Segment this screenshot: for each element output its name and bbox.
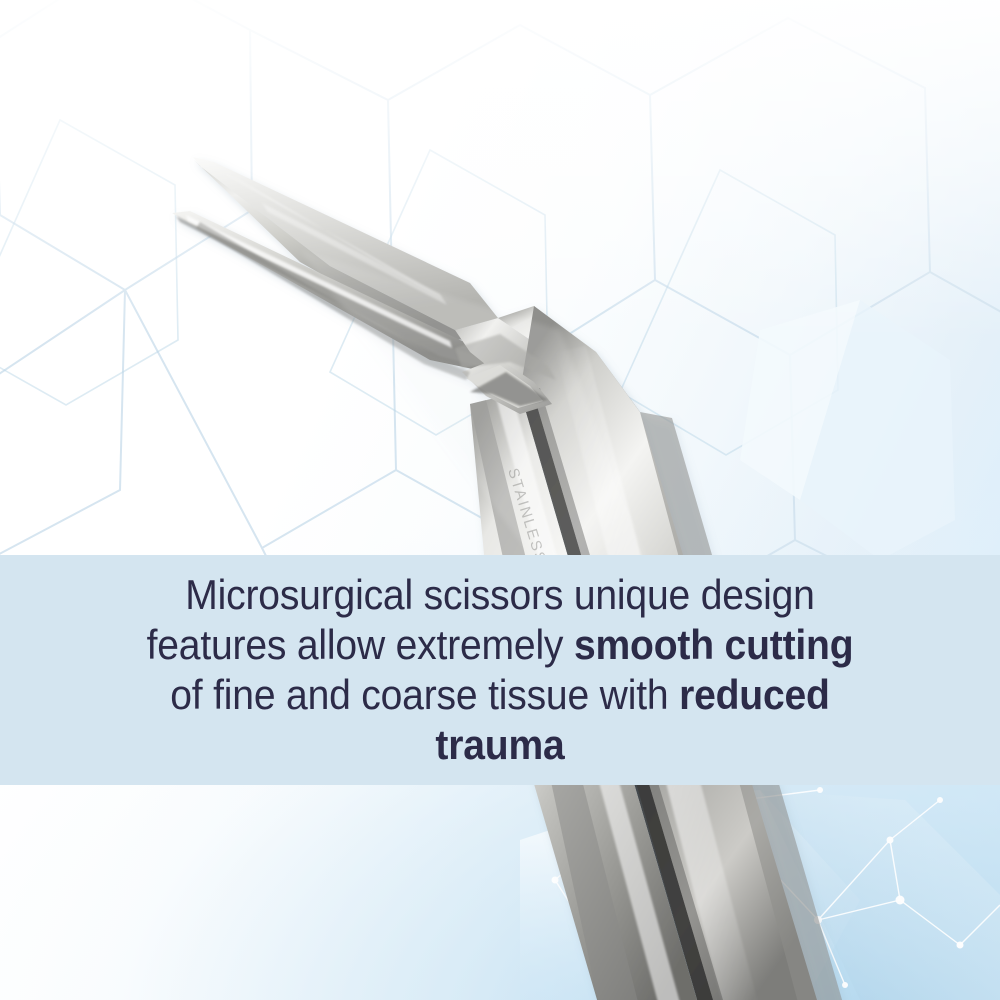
caption-run-2-2: smooth cutting xyxy=(574,621,853,668)
microsurgical-scissors-image: STAINLESS xyxy=(0,0,1000,1000)
caption-line-4: trauma xyxy=(82,720,919,770)
caption-line-1: Microsurgical scissors unique design xyxy=(82,570,919,620)
product-banner-image: STAINLESS Microsurgical scissors unique … xyxy=(0,0,1000,1000)
caption-run-4-1: trauma xyxy=(435,721,564,768)
caption-run-3-2: reduced xyxy=(679,671,830,718)
caption-banner: Microsurgical scissors unique designfeat… xyxy=(0,555,1000,785)
caption-line-2: features allow extremely smooth cutting xyxy=(82,620,919,670)
caption-line-3: of fine and coarse tissue with reduced xyxy=(82,670,919,720)
caption-run-3-1: of fine and coarse tissue with xyxy=(170,671,679,718)
caption-run-1-1: Microsurgical scissors unique design xyxy=(185,571,814,618)
caption-text: Microsurgical scissors unique designfeat… xyxy=(82,570,919,770)
caption-run-2-1: features allow extremely xyxy=(147,621,574,668)
